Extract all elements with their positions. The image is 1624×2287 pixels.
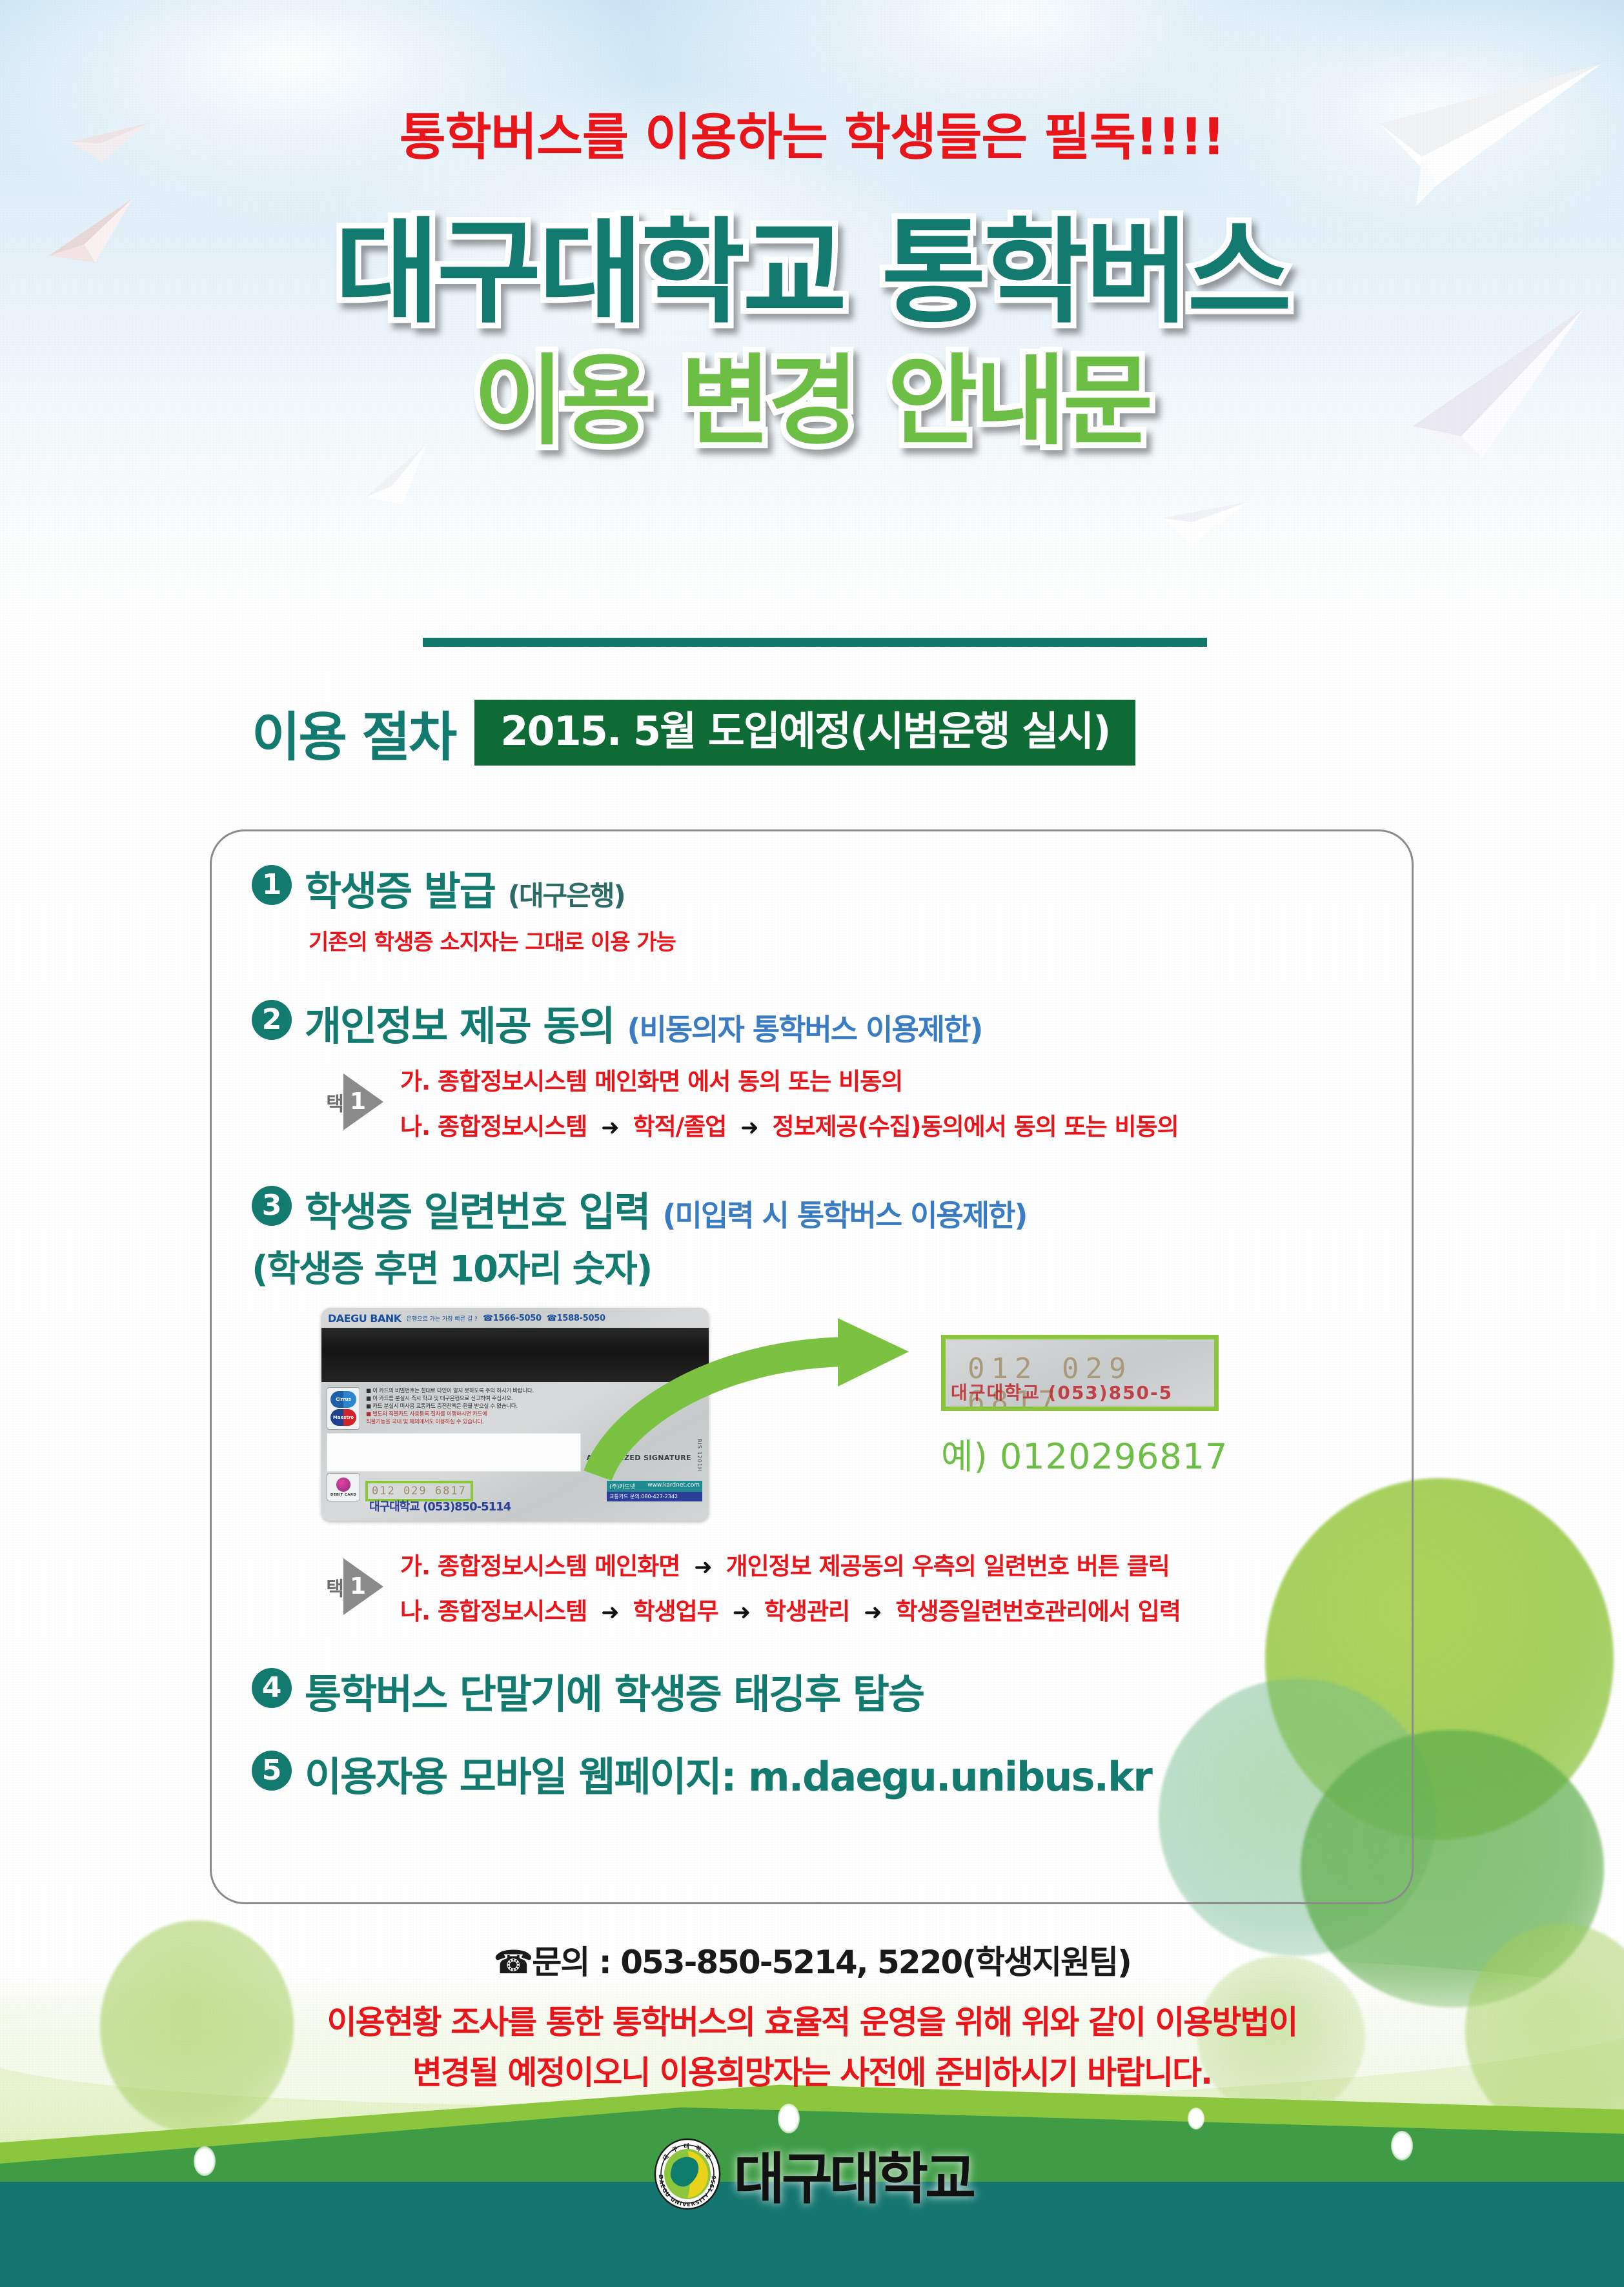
pick-one-marker: 택 1 (323, 1558, 383, 1615)
serial-zoom-callout: 012 029 6817 대구대학교 (053)850-5 예) 0120296… (941, 1335, 1228, 1479)
step-number-1: 1 (252, 865, 292, 905)
contact-line: ☎문의 : 053-850-5214, 5220(학생지원팀) (0, 1936, 1624, 1983)
pick-count: 1 (350, 1575, 366, 1598)
notice-line-2: 변경될 예정이오니 이용희망자는 사전에 준비하시기 바랍니다. (0, 2048, 1624, 2099)
step-1-header: 1 학생증 발급 (대구은행) (252, 859, 1426, 917)
poster-content: 통학버스를 이용하는 학생들은 필독!!!! 대구대학교 통학버스 이용 변경 … (0, 0, 1624, 2287)
arrow-right-icon: ➜ (594, 1600, 625, 1625)
step-3-option-list: 가. 종합정보시스템 메인화면 ➜ 개인정보 제공동의 우측의 일련번호 버튼 … (400, 1547, 1181, 1627)
bank-tagline: 은행으로 가는 가장 빠른 길 ? (407, 1314, 478, 1323)
step-item-5: 5 이용자용 모바일 웹페이지: m.daegu.unibus.kr (252, 1744, 1426, 1802)
step-5-title: 이용자용 모바일 웹페이지: m.daegu.unibus.kr (305, 1744, 1152, 1802)
poster-root: 통학버스를 이용하는 학생들은 필독!!!! 대구대학교 통학버스 이용 변경 … (0, 0, 1624, 2287)
step-number-3: 3 (252, 1186, 292, 1226)
maestro-icon: Maestro (330, 1409, 356, 1426)
cirrus-label: Cirrus (330, 1391, 356, 1408)
option-part: 학생증일련번호관리에서 입력 (895, 1598, 1180, 1625)
option-part: 종합정보시스템 메인화면 (438, 1552, 680, 1580)
signature-box (327, 1433, 581, 1472)
serial-zoom-underline-text: 대구대학교 (053)850-5 (951, 1379, 1173, 1405)
step-3-header: 3 학생증 일련번호 입력 (미입력 시 통학버스 이용제한) (252, 1179, 1426, 1237)
card-university-line: 대구대학교 (053)850-5114 (369, 1498, 511, 1514)
pick-count: 1 (350, 1090, 366, 1113)
curved-arrow-icon (580, 1314, 941, 1489)
step-3-title: 학생증 일련번호 입력 (305, 1179, 650, 1237)
step-number-5: 5 (252, 1751, 292, 1791)
arrow-right-icon: ➜ (857, 1600, 888, 1625)
pick-one-marker: 택 1 (323, 1073, 383, 1130)
option-prefix: 가. (400, 1552, 430, 1580)
maestro-label: Maestro (330, 1409, 356, 1426)
university-logo-row: 대 구 대 학 교 DAEGU UNIVERSITY 1956 대구대학교 (0, 2133, 1624, 2214)
step-5-header: 5 이용자용 모바일 웹페이지: m.daegu.unibus.kr (252, 1744, 1426, 1802)
cirrus-maestro-logo-icon: Cirrus Maestro (327, 1387, 360, 1430)
option-part: 정보제공(수집)동의에서 동의 또는 비동의 (773, 1113, 1179, 1141)
step-2-title: 개인정보 제공 동의 (305, 993, 614, 1052)
poster-title: 대구대학교 통학버스 이용 변경 안내문 (0, 213, 1624, 453)
card-serial-wrap: 012 029 6817 대구대학교 (053)850-5114 (365, 1481, 602, 1501)
step-1-title: 학생증 발급 (305, 859, 495, 917)
notice-block: 이용현황 조사를 통한 통학버스의 효율적 운영을 위해 위와 같이 이용방법이… (0, 1998, 1624, 2098)
option-part: 학적/졸업 (633, 1113, 727, 1141)
step-number-4: 4 (252, 1668, 292, 1708)
procedure-label: 이용 절차 (252, 694, 455, 771)
step-2-option-list: 가. 종합정보시스템 메인화면 에서 동의 또는 비동의 나. 종합정보시스템 … (400, 1062, 1179, 1142)
option-part: 개인정보 제공동의 우측의 일련번호 버튼 클릭 (726, 1552, 1170, 1580)
card-illustration-area: DAEGU BANK 은행으로 가는 가장 빠른 길 ? ☎1566-5050 … (321, 1308, 1426, 1540)
step-item-1: 1 학생증 발급 (대구은행) 기존의 학생증 소지자는 그대로 이용 가능 (252, 859, 1426, 956)
step-2-header: 2 개인정보 제공 동의 (비동의자 통학버스 이용제한) (252, 993, 1426, 1052)
list-item: 나. 종합정보시스템 ➜ 학생업무 ➜ 학생관리 ➜ 학생증일련번호관리에서 입… (400, 1592, 1181, 1627)
step-2-note: (비동의자 통학버스 이용제한) (627, 1006, 982, 1049)
step-4-title: 통학버스 단말기에 학생증 태깅후 탑승 (305, 1662, 924, 1720)
bank-name: DAEGU BANK (328, 1312, 401, 1325)
headline: 통학버스를 이용하는 학생들은 필독!!!! (0, 97, 1624, 169)
step-item-2: 2 개인정보 제공 동의 (비동의자 통학버스 이용제한) 택 1 가. (252, 993, 1426, 1142)
step-1-subtext: 기존의 학생증 소지자는 그대로 이용 가능 (309, 924, 1426, 956)
bank-tel-1: ☎1566-5050 (483, 1314, 542, 1323)
title-line-1: 대구대학교 통학버스 (0, 213, 1624, 334)
title-line-2: 이용 변경 안내문 (0, 349, 1624, 453)
option-part: 종합정보시스템 (438, 1598, 587, 1625)
step-item-4: 4 통학버스 단말기에 학생증 태깅후 탑승 (252, 1662, 1426, 1720)
pick-label: 택 (323, 1578, 342, 1595)
title-divider (423, 638, 1207, 647)
kardnet-help: 교통카드 문의:080-427-2342 (607, 1492, 702, 1501)
step-item-3: 3 학생증 일련번호 입력 (미입력 시 통학버스 이용제한) (학생증 후면 … (252, 1179, 1426, 1627)
step-2-options: 택 1 가. 종합정보시스템 메인화면 에서 동의 또는 비동의 나. 종합정보… (323, 1062, 1426, 1142)
step-3-note: (미입력 시 통학버스 이용제한) (663, 1192, 1027, 1235)
step-3-line2: (학생증 후면 10자리 숫자) (252, 1240, 1426, 1292)
option-part: 종합정보시스템 (438, 1113, 587, 1141)
pick-triangle-icon: 1 (343, 1558, 383, 1615)
serial-zoom-frame: 012 029 6817 대구대학교 (053)850-5 (941, 1335, 1219, 1411)
option-prefix: 나. (400, 1113, 430, 1141)
notice-line-1: 이용현황 조사를 통한 통학버스의 효율적 운영을 위해 위와 같이 이용방법이 (0, 1998, 1624, 2048)
arrow-right-icon: ➜ (734, 1115, 765, 1141)
arrow-right-icon: ➜ (726, 1600, 757, 1625)
debit-label: DEBIT CARD (330, 1493, 356, 1497)
step-3-options: 택 1 가. 종합정보시스템 메인화면 ➜ 개인정보 제공동의 우측의 일련번호… (323, 1547, 1426, 1627)
option-prefix: 가. (400, 1068, 430, 1095)
pick-triangle-icon: 1 (343, 1073, 383, 1130)
university-name: 대구대학교 (734, 2133, 973, 2214)
arrow-right-icon: ➜ (594, 1115, 625, 1141)
procedure-header: 이용 절차 2015. 5월 도입예정(시범운행 실시) (252, 694, 1135, 771)
list-item: 가. 종합정보시스템 메인화면 ➜ 개인정보 제공동의 우측의 일련번호 버튼 … (400, 1547, 1181, 1581)
step-number-2: 2 (252, 1000, 292, 1040)
steps-list: 1 학생증 발급 (대구은행) 기존의 학생증 소지자는 그대로 이용 가능 2… (252, 859, 1426, 1802)
step-4-header: 4 통학버스 단말기에 학생증 태깅후 탑승 (252, 1662, 1426, 1720)
debit-card-logo-icon: DEBIT CARD (327, 1473, 360, 1501)
daegu-university-emblem-icon: 대 구 대 학 교 DAEGU UNIVERSITY 1956 (651, 2138, 724, 2210)
list-item: 나. 종합정보시스템 ➜ 학적/졸업 ➜ 정보제공(수집)동의에서 동의 또는 … (400, 1107, 1179, 1142)
step-1-note: (대구은행) (508, 874, 625, 913)
option-prefix: 나. (400, 1598, 430, 1625)
debit-mark (336, 1478, 350, 1492)
card-network-logos: Cirrus Maestro (327, 1387, 360, 1430)
list-item: 가. 종합정보시스템 메인화면 에서 동의 또는 비동의 (400, 1062, 1179, 1097)
pick-label: 택 (323, 1093, 342, 1110)
card-serial-number: 012 029 6817 (372, 1485, 467, 1498)
option-part: 학생관리 (764, 1598, 849, 1625)
option-part: 종합정보시스템 메인화면 에서 동의 또는 비동의 (438, 1068, 902, 1095)
serial-example-text: 예) 0120296817 (941, 1428, 1228, 1479)
procedure-badge: 2015. 5월 도입예정(시범운행 실시) (474, 700, 1135, 766)
arrow-right-icon: ➜ (687, 1554, 718, 1580)
option-part: 학생업무 (633, 1598, 718, 1625)
cirrus-icon: Cirrus (330, 1391, 356, 1408)
